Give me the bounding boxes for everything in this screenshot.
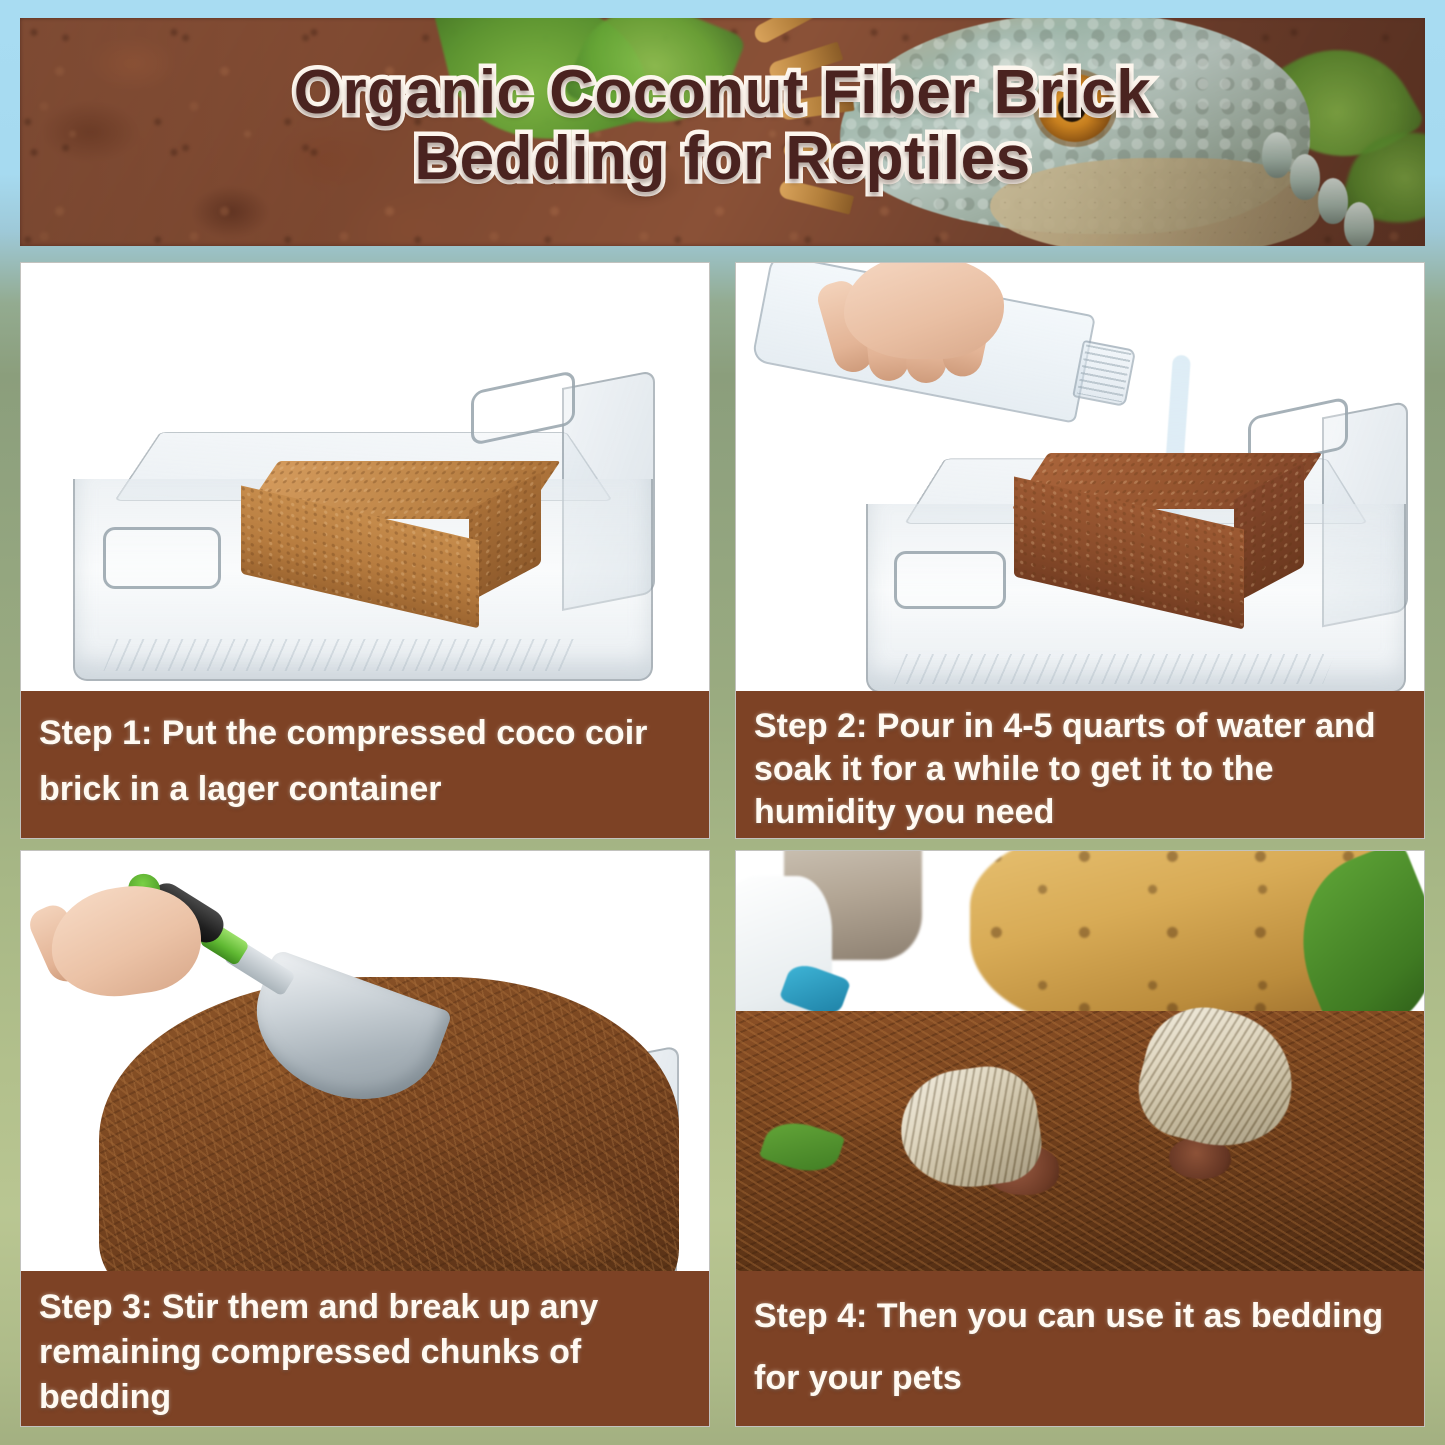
title-line-1: Organic Coconut Fiber Brick bbox=[20, 60, 1425, 126]
steps-grid: Step 1: Put the compressed coco coir bri… bbox=[20, 262, 1425, 1427]
header-banner: Organic Coconut Fiber Brick Bedding for … bbox=[20, 18, 1425, 246]
step-1-caption: Step 1: Put the compressed coco coir bri… bbox=[21, 691, 709, 838]
coco-coir-brick bbox=[1014, 453, 1304, 603]
title-line-2: Bedding for Reptiles bbox=[20, 126, 1425, 192]
step-panel-1: Step 1: Put the compressed coco coir bri… bbox=[20, 262, 710, 839]
step-2-photo bbox=[736, 263, 1424, 691]
step-3-photo bbox=[21, 851, 709, 1271]
step-panel-2: Step 2: Pour in 4-5 quarts of water and … bbox=[735, 262, 1425, 839]
infographic-page: Organic Coconut Fiber Brick Bedding for … bbox=[0, 0, 1445, 1445]
coco-coir-brick bbox=[241, 461, 541, 601]
step-4-caption: Step 4: Then you can use it as bedding f… bbox=[736, 1271, 1424, 1426]
bin-base-ribs bbox=[103, 639, 577, 671]
bin-handle-left bbox=[894, 551, 1006, 609]
step-1-photo bbox=[21, 263, 709, 691]
bottle-thread-rings bbox=[1077, 344, 1132, 402]
palm bbox=[44, 877, 208, 1005]
hand bbox=[814, 263, 1024, 395]
step-panel-3: Step 3: Stir them and break up any remai… bbox=[20, 850, 710, 1427]
bin-base-ribs bbox=[894, 654, 1335, 684]
palm bbox=[844, 263, 1004, 359]
step-4-photo bbox=[736, 851, 1424, 1271]
bin-handle-left bbox=[103, 527, 221, 589]
hand bbox=[33, 887, 223, 1017]
page-title: Organic Coconut Fiber Brick Bedding for … bbox=[20, 60, 1425, 192]
step-panel-4: Step 4: Then you can use it as bedding f… bbox=[735, 850, 1425, 1427]
step-3-caption: Step 3: Stir them and break up any remai… bbox=[21, 1271, 709, 1426]
step-2-caption: Step 2: Pour in 4-5 quarts of water and … bbox=[736, 691, 1424, 838]
terrarium-scene bbox=[736, 851, 1424, 1271]
